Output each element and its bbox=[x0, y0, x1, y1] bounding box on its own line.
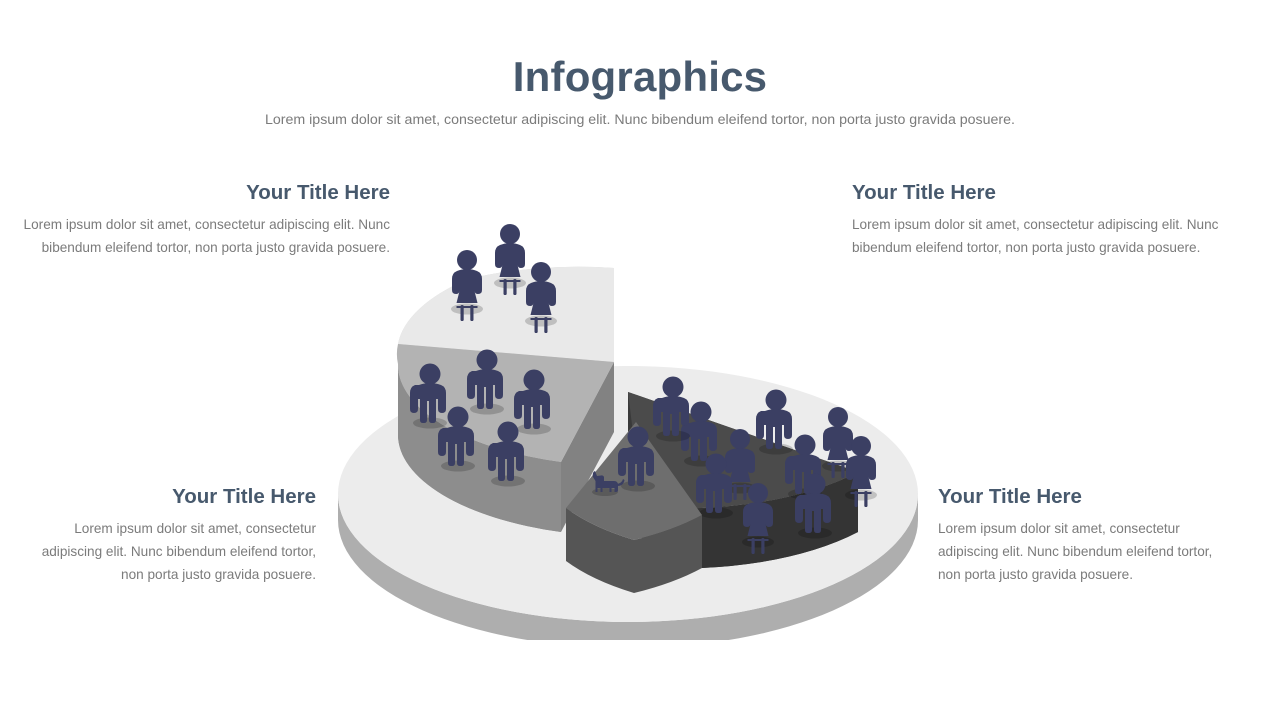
callout-body: Lorem ipsum dolor sit amet, consectetur … bbox=[938, 517, 1236, 587]
callout-bottom-right[interactable]: Your Title Here Lorem ipsum dolor sit am… bbox=[938, 484, 1236, 587]
callout-bottom-left[interactable]: Your Title Here Lorem ipsum dolor sit am… bbox=[18, 484, 316, 587]
callout-title: Your Title Here bbox=[18, 484, 316, 510]
isometric-pie-chart bbox=[318, 160, 938, 640]
page-subtitle: Lorem ipsum dolor sit amet, consectetur … bbox=[190, 111, 1090, 131]
infographic-canvas: Infographics Lorem ipsum dolor sit amet,… bbox=[0, 0, 1280, 720]
callout-body: Lorem ipsum dolor sit amet, consectetur … bbox=[18, 517, 316, 587]
header: Infographics Lorem ipsum dolor sit amet,… bbox=[0, 54, 1280, 131]
page-title: Infographics bbox=[0, 54, 1280, 99]
callout-title: Your Title Here bbox=[938, 484, 1236, 510]
